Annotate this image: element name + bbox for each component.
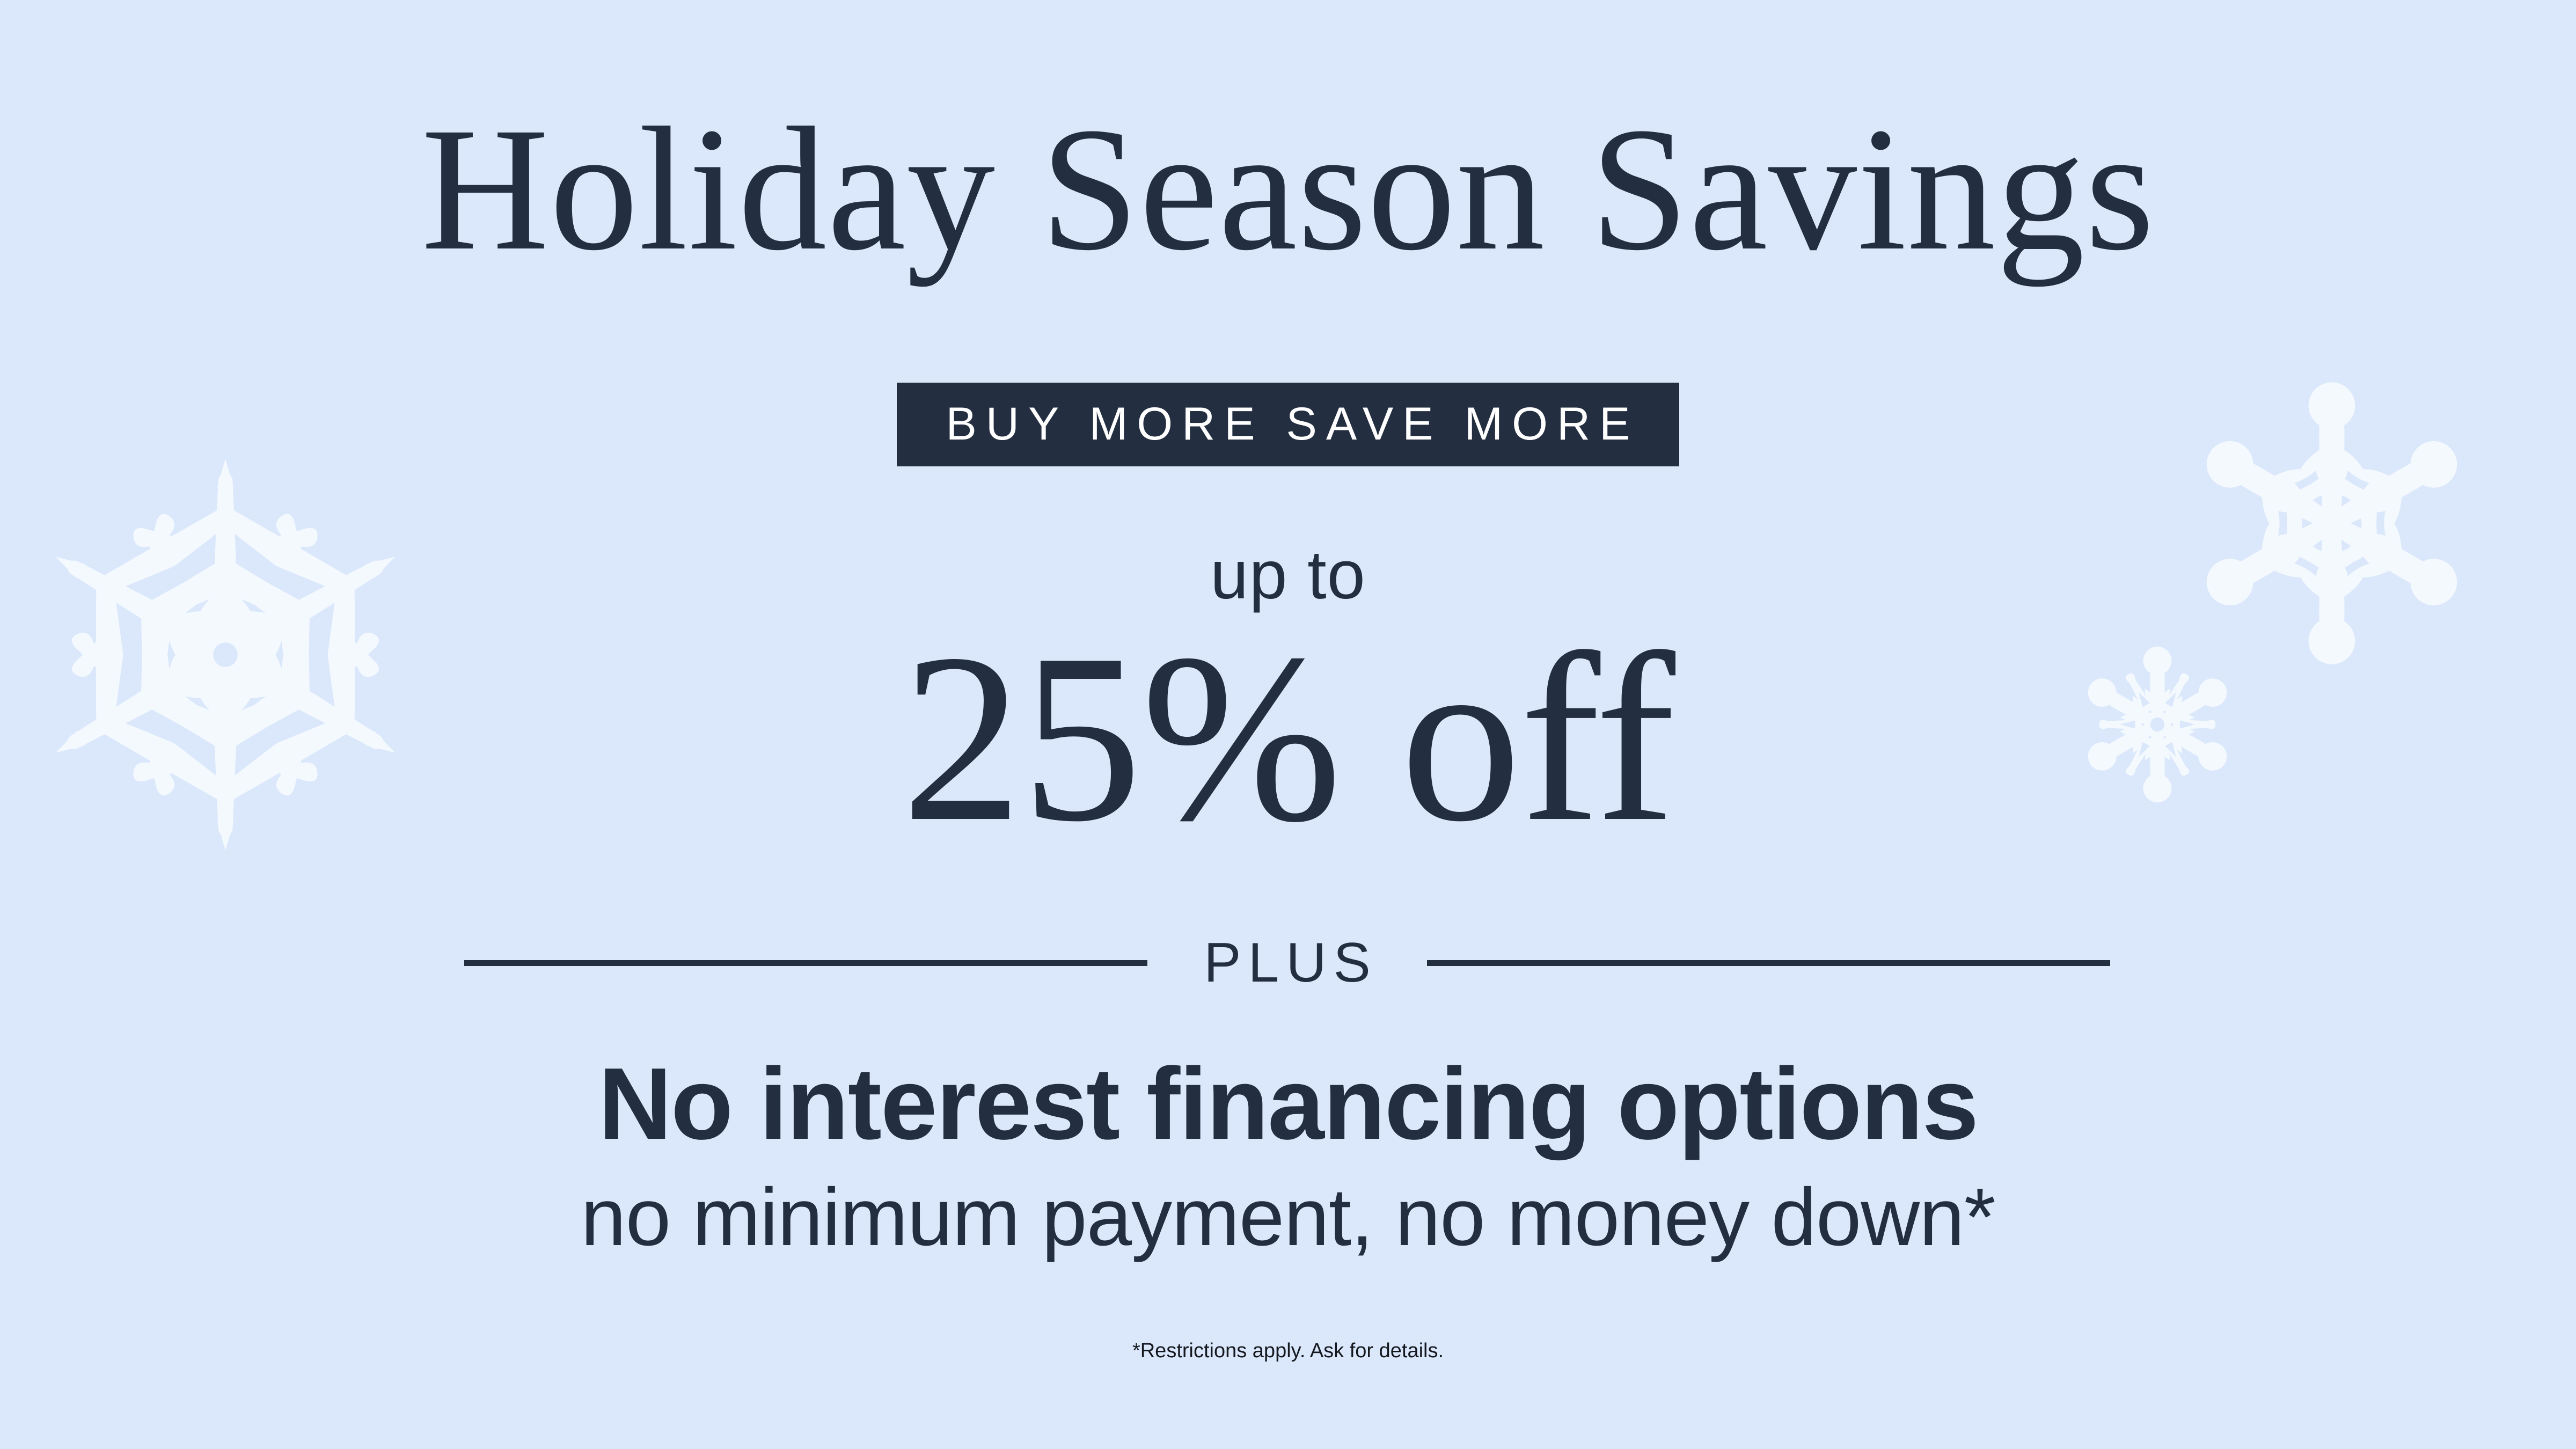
divider-rule-right [1427,960,2110,966]
status-badge: BUY MORE SAVE MORE [897,383,1679,466]
divider-rule-left [464,960,1147,966]
offer-amount: 25% off [0,617,2576,859]
page-title: Holiday Season Savings [0,101,2576,278]
legal-fine-print: *Restrictions apply. Ask for details. [0,1341,2576,1361]
offer-qualifier: up to [0,541,2576,610]
plus-divider: PLUS [464,920,2110,1006]
divider-label: PLUS [1147,935,1427,991]
promotional-banner: Holiday Season Savings BUY MORE SAVE MOR… [0,0,2576,1449]
financing-subtext: no minimum payment, no money down* [0,1176,2576,1258]
financing-headline: No interest financing options [0,1053,2576,1155]
badge-row: BUY MORE SAVE MORE [0,383,2576,466]
